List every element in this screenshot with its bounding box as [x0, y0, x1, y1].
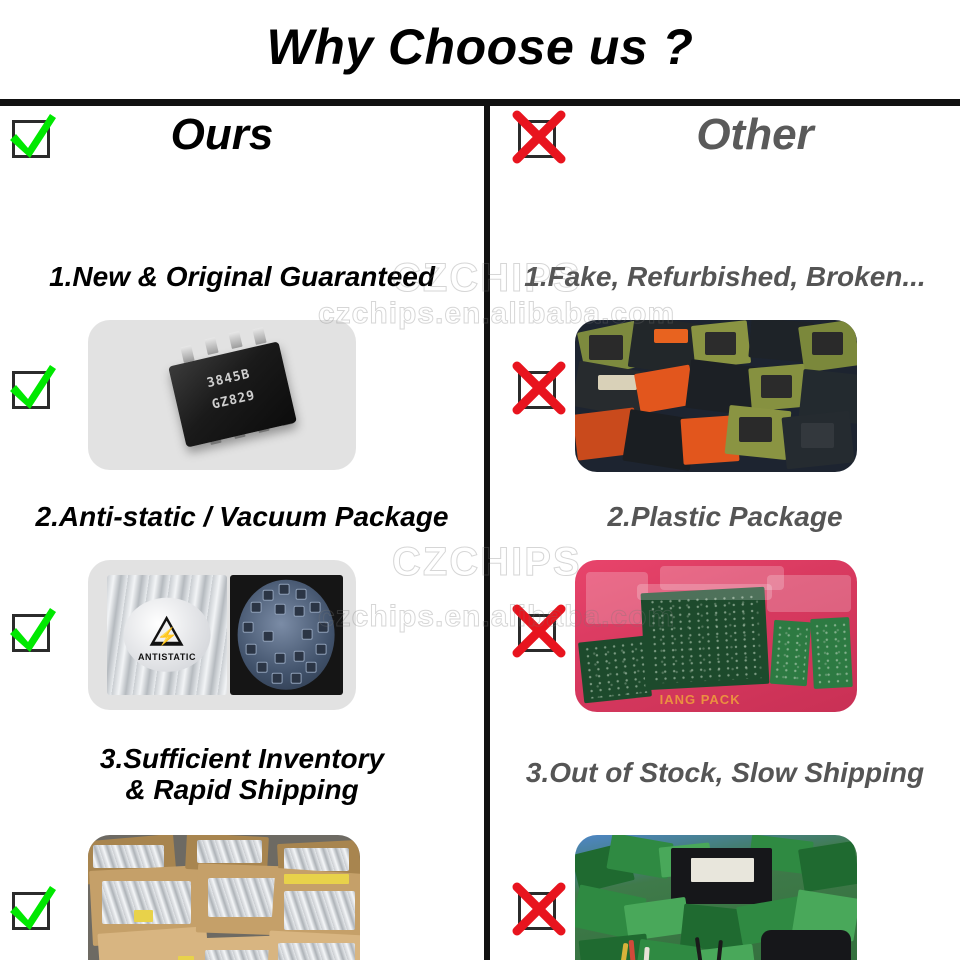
- red-cross-icon: [512, 363, 566, 417]
- why-choose-us-infographic: Why Choose us ? Ours 1.New & Original Gu…: [0, 0, 960, 960]
- ours-column-label: Ours: [0, 110, 484, 160]
- ours-row-3-check-mark: [6, 884, 60, 938]
- antistatic-disc-label: ⚡ ANTISTATIC: [124, 598, 211, 672]
- other-row-3-heading: 3.Out of Stock, Slow Shipping: [490, 758, 960, 789]
- ours-row-1-check-mark: [6, 363, 60, 417]
- red-cross-icon: [512, 884, 566, 938]
- tray-reel: [238, 580, 335, 690]
- green-check-icon: [6, 884, 60, 938]
- pack-watermark-text: IANG PACK: [660, 692, 741, 707]
- stock-boxes-photo: [88, 835, 360, 960]
- other-row-1-cross-mark: [512, 363, 566, 417]
- other-row-1-heading: 1.Fake, Refurbished, Broken...: [490, 262, 960, 293]
- other-row-3-cross-mark: [512, 884, 566, 938]
- antistatic-text: ANTISTATIC: [124, 652, 211, 662]
- other-column: Other 1.Fake, Refurbished, Broken...: [490, 106, 960, 960]
- ours-column: Ours 1.New & Original Guaranteed: [0, 106, 484, 960]
- green-scrap-boards-photo: [575, 835, 857, 960]
- other-row-2-cross-mark: [512, 606, 566, 660]
- new-original-chip-photo: 3845B GZ829: [88, 320, 356, 470]
- red-cross-icon: [512, 606, 566, 660]
- lightning-bolt-icon: ⚡: [156, 628, 177, 645]
- ours-row-2-check-mark: [6, 606, 60, 660]
- other-column-label: Other: [490, 110, 960, 160]
- other-column-header: Other: [490, 106, 960, 178]
- pink-plastic-bag-pcb-photo: IANG PACK: [575, 560, 857, 712]
- scrap-chips-pile-photo: [575, 320, 857, 472]
- header-divider-rule: [0, 99, 960, 106]
- ours-column-header: Ours: [0, 106, 484, 178]
- green-check-icon: [6, 363, 60, 417]
- antistatic-bag: ⚡ ANTISTATIC: [107, 575, 228, 695]
- other-row-2-heading: 2.Plastic Package: [490, 502, 960, 533]
- antistatic-bag-and-tray-photo: ⚡ ANTISTATIC: [88, 560, 356, 710]
- component-tray: [230, 575, 343, 695]
- green-check-icon: [6, 606, 60, 660]
- ours-row-1-heading: 1.New & Original Guaranteed: [0, 262, 484, 293]
- ours-row-2-heading: 2.Anti-static / Vacuum Package: [0, 502, 484, 533]
- page-title: Why Choose us ?: [0, 18, 960, 76]
- black-module: [671, 848, 773, 904]
- ours-row-3-heading: 3.Sufficient Inventory & Rapid Shipping: [0, 744, 484, 806]
